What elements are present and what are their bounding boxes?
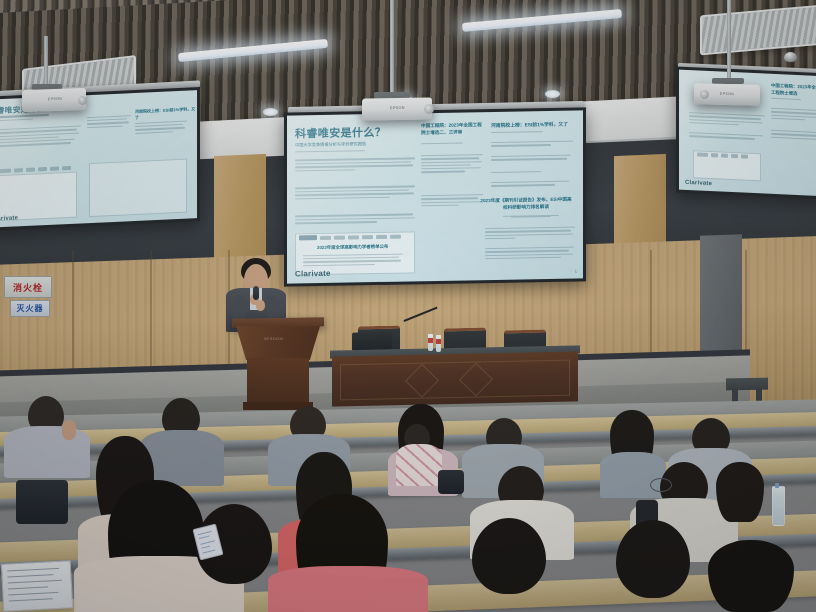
audience-body-floral	[396, 444, 442, 486]
speaker-hand-right	[256, 300, 265, 311]
slide-main-subtitle: 中国大学竞争情报分析与评价研究报告	[295, 141, 366, 148]
slide-left-inner-card-2	[89, 159, 187, 217]
slide-left-inner-card	[0, 172, 77, 222]
slide-right-col-head-1: 中国工程院：2023年全国工程院士增选	[771, 83, 816, 96]
water-bottle-table-1[interactable]	[428, 334, 433, 351]
head-table-panel	[340, 360, 570, 401]
screen-surface-main: 科睿唯安是什么？ 中国大学竞争情报分析与评价研究报告	[287, 110, 583, 283]
backpack-on-desk[interactable]	[16, 480, 68, 524]
audience-body-15	[268, 566, 428, 612]
downlight-4	[545, 90, 560, 98]
water-bottle-table-2[interactable]	[436, 335, 441, 352]
slide-main-col-head-2: 河南院校上榜：ESI前1%学科，又了	[491, 123, 568, 129]
slide-main-page-number: 1	[575, 269, 577, 274]
audience-hair-19	[708, 540, 794, 612]
projector-pole-right	[727, 0, 731, 80]
podium-base	[247, 358, 309, 406]
extinguisher-sign: 灭火器	[10, 300, 50, 317]
projector-brand-center: EPSON	[390, 106, 405, 110]
lecture-hall-photo: 消火栓 灭火器 科睿唯安是什么？	[0, 0, 816, 612]
slide-main-col-head-1: 中国工程院：2023年全国工程院士增选二、三评审	[421, 122, 482, 135]
projector-pole-left	[44, 36, 48, 86]
eyeglasses-icon	[650, 478, 672, 492]
audience-hair-13	[716, 462, 764, 522]
laptop-on-table[interactable]	[352, 331, 392, 350]
podium-logo: WISDOM	[264, 336, 283, 341]
head-table-body	[332, 351, 578, 406]
printed-handout[interactable]	[1, 560, 73, 612]
extinguisher-sign-label: 灭火器	[17, 303, 44, 314]
water-bottle-desk[interactable]	[772, 486, 785, 526]
handbag-on-desk[interactable]	[438, 470, 464, 494]
slide-left-col-head: 河南院校上榜：ESI前1%学科，又了	[135, 106, 195, 120]
security-camera-right	[784, 52, 797, 62]
audience-head-17	[472, 518, 546, 594]
handheld-microphone[interactable]	[253, 286, 259, 300]
fire-hydrant-sign: 消火栓	[4, 276, 52, 298]
projector-center: EPSON	[362, 97, 432, 120]
projector-lens-center	[424, 104, 434, 114]
slide-main-card-head: 2023年度全球高影响力学者榜单公布	[317, 244, 388, 250]
slide-main-title: 科睿唯安是什么？	[295, 124, 386, 142]
podium-body: WISDOM	[236, 326, 320, 360]
slide-right-logo: Clarivate	[685, 180, 712, 187]
audience-head-18	[616, 520, 690, 598]
audience-body-1	[4, 426, 90, 478]
slide-main-logo: Clarivate	[295, 269, 331, 279]
audience-hand-1	[62, 420, 76, 440]
slide-left-logo: Clarivate	[0, 215, 18, 222]
projector-brand-left: EPSON	[48, 97, 62, 101]
projector-left: EPSON	[22, 88, 86, 112]
downlight-2	[263, 108, 278, 116]
slide-main: 科睿唯安是什么？ 中国大学竞争情报分析与评价研究报告	[287, 110, 583, 283]
projection-screen-main: 科睿唯安是什么？ 中国大学竞争情报分析与评价研究报告	[284, 107, 586, 286]
projector-pole-center	[390, 0, 394, 96]
projector-lens-right	[700, 90, 709, 99]
fire-hydrant-sign-label: 消火栓	[13, 281, 43, 294]
projector-lens-left	[78, 96, 87, 105]
slide-main-secondary-head: 2023年度《期刊引证报告》发布，ESI中国高校科研影响力排名解读	[480, 197, 571, 210]
projector-brand-right: EPSON	[720, 92, 734, 96]
